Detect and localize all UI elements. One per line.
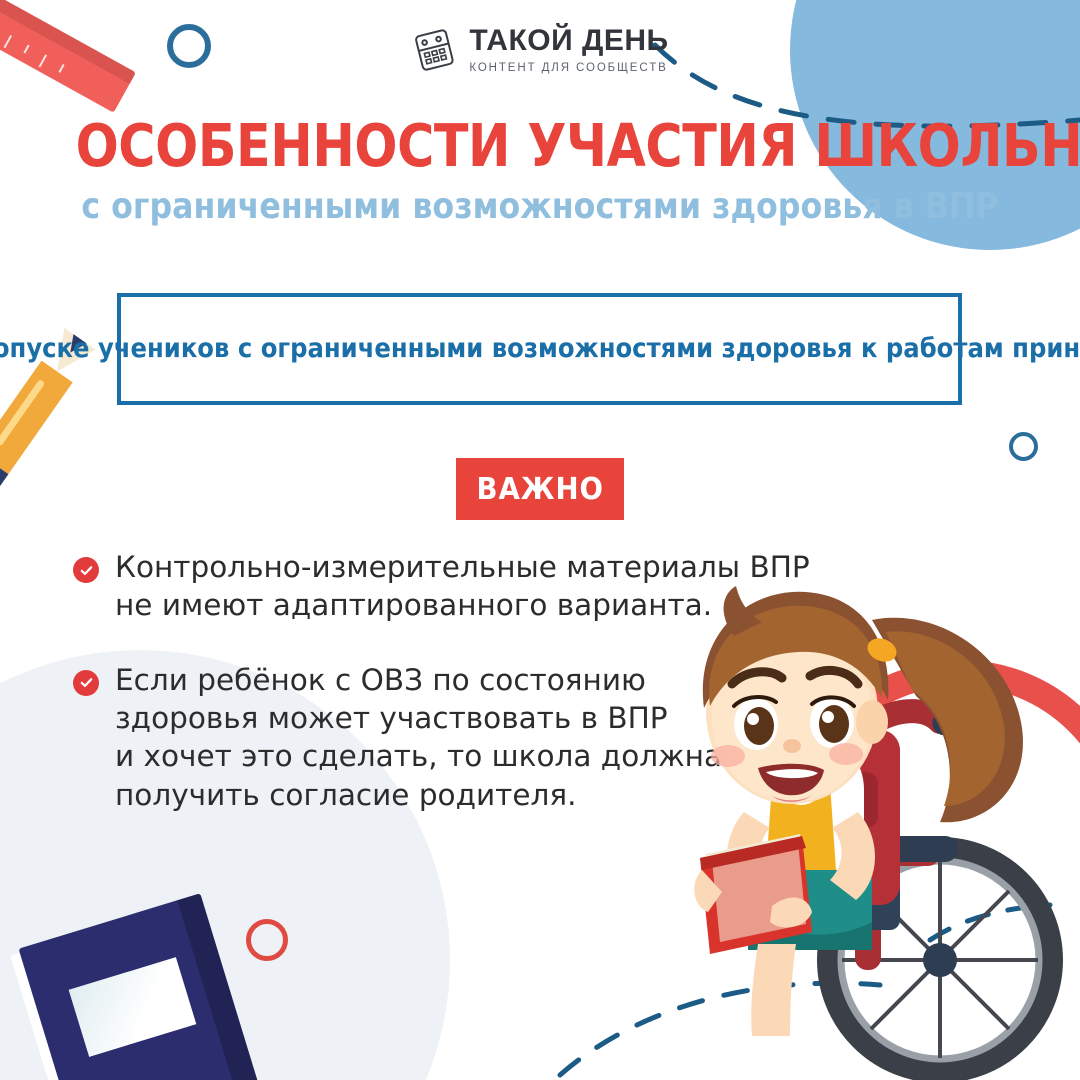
logo-subtitle: КОНТЕНТ ДЛЯ СООБЩЕСТВ <box>469 62 668 74</box>
important-badge: ВАЖНО <box>456 458 624 520</box>
page-subtitle: с ограниченными возможностями здоровья в… <box>65 186 1015 227</box>
logo-title: ТАКОЙ ДЕНЬ <box>469 26 668 56</box>
page-title-block: ОСОБЕННОСТИ УЧАСТИЯ ШКОЛЬНИКОВ с огранич… <box>0 116 1080 227</box>
check-circle-icon <box>73 557 99 583</box>
brand-logo: ТАКОЙ ДЕНЬ КОНТЕНТ ДЛЯ СООБЩЕСТВ <box>411 26 668 74</box>
infographic-poster: ТАКОЙ ДЕНЬ КОНТЕНТ ДЛЯ СООБЩЕСТВ ОСОБЕНН… <box>0 0 1080 1080</box>
callout-text: Решение о допуске учеников с ограниченны… <box>0 330 1080 367</box>
check-circle-icon <box>73 670 99 696</box>
callout-box: Решение о допуске учеников с ограниченны… <box>117 293 962 405</box>
list-item-text: Если ребёнок с ОВЗ по состоянию здоровья… <box>115 661 722 814</box>
girl-in-wheelchair-illustration <box>640 540 1080 1080</box>
calendar-keypad-icon <box>411 27 457 73</box>
important-badge-label: ВАЖНО <box>476 472 603 507</box>
page-title: ОСОБЕННОСТИ УЧАСТИЯ ШКОЛЬНИКОВ <box>76 116 1005 176</box>
